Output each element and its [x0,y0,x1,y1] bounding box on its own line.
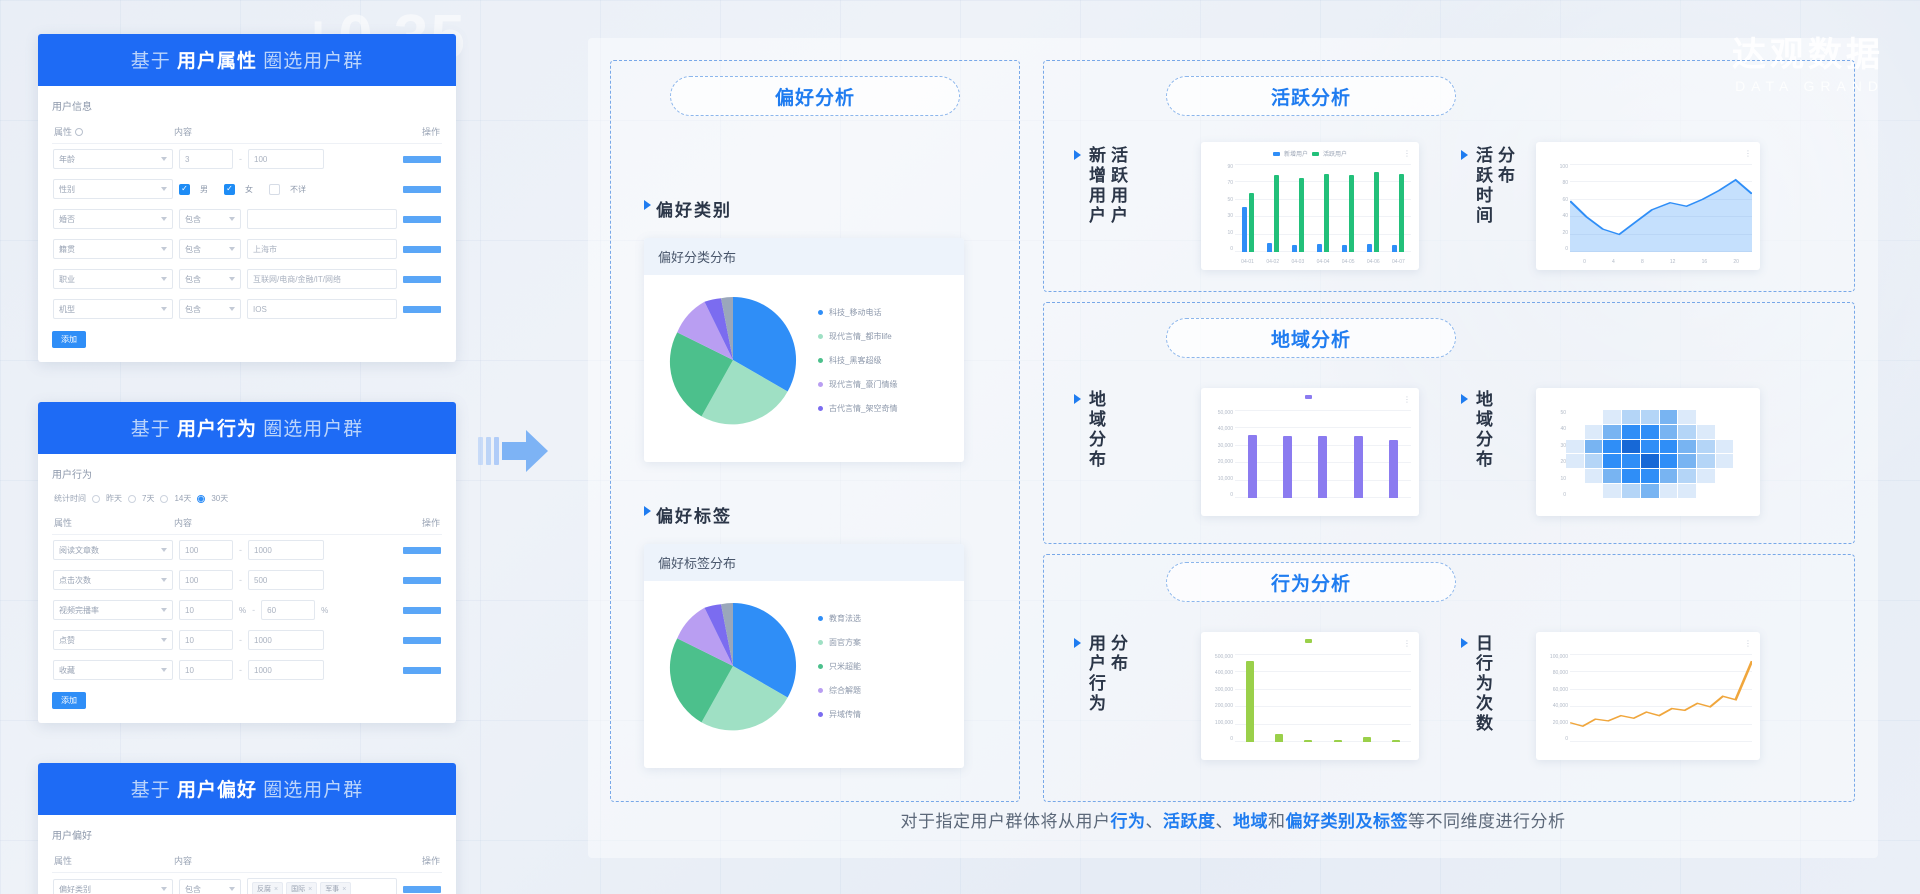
triangle-bullet-icon [644,506,651,516]
triangle-bullet-icon [644,200,651,210]
legend-swatch-icon [818,310,823,315]
row-action-link[interactable] [403,276,441,283]
card-user-attributes: 基于 用户属性 圈选用户群 用户信息 属性 内容 操作 年龄 3 - 100 性… [38,34,456,362]
value-input[interactable]: IOS [247,299,397,319]
legend-label: 科技_黑客超级 [829,355,881,366]
range-max-input[interactable]: 100 [248,149,324,169]
attribute-select[interactable]: 婚否 [53,209,173,229]
attribute-select[interactable]: 阅读文章数 [53,540,173,560]
arrow-tail-bar [494,437,499,465]
legend-label: 异域传情 [829,709,861,720]
label-region-distribution-right: 地域分布 [1461,390,1545,470]
attribute-select[interactable]: 机型 [53,299,173,319]
x-axis-active-time: 04 812 1620 [1570,259,1752,265]
arrow-tail-bar [486,437,491,465]
legend-swatch-icon [818,664,823,669]
table-row: 籍贯 包含 上海市 [52,234,442,264]
group-label-preference-tag: 偏好标签 [644,502,732,527]
label-col-distribution: 分布 [1495,146,1513,226]
radio-yesterday-label: 昨天 [106,493,122,504]
legend-label: 活跃用户 [1323,149,1347,158]
percent-unit-max: % [321,606,328,615]
tag-chip[interactable]: 军事× [320,882,351,894]
radio-7days[interactable] [128,495,136,503]
col-content: 内容 [174,125,396,138]
row-action-link[interactable] [403,547,441,554]
tag-input-category[interactable]: 反腐× 国际× 军事× [247,878,397,894]
col-content: 内容 [174,854,396,867]
line-chart-daily-behavior [1570,654,1752,742]
range-max-input[interactable]: 1000 [248,540,324,560]
checkbox-male-label: 男 [200,184,208,195]
triangle-bullet-icon [1461,394,1468,404]
legend-swatch-icon [1312,152,1319,156]
range-dash: - [239,545,242,555]
triangle-bullet-icon [1074,150,1081,160]
chart-menu-icon[interactable]: ⋮ [1744,149,1752,158]
range-min-input[interactable]: 10 [179,630,233,650]
group-label-text: 偏好类别 [656,196,732,221]
range-min-input[interactable]: 10 [179,600,233,620]
legend-item: 古代言情_架空奇情 [818,403,897,414]
pie-legend-tag: 教育法选 面官方案 只米超能 综合解题 异域传情 [818,613,861,720]
legend-item: 现代言情_豪门情缘 [818,379,897,390]
plot-area-region [1235,410,1411,498]
caption-part-4: 和 [1268,812,1286,831]
chart-card-active-time: ⋮ 100806040200 04 812 1620 [1536,142,1760,270]
pie-legend-category: 科技_移动电话 现代言情_都市life 科技_黑客超级 现代言情_豪门情缘 古代… [818,307,897,414]
pie-chart-category [658,285,808,435]
caption-highlight-activity: 活跃度 [1163,812,1216,831]
plot-area-active-time [1570,164,1752,252]
y-axis-daily-behavior: 100,00080,00060,00040,00020,0000 [1542,654,1568,742]
row-action-link[interactable] [403,577,441,584]
card-title-suffix: 圈选用户群 [263,51,363,72]
triangle-bullet-icon [1074,394,1081,404]
form-header: 属性 内容 操作 [52,121,442,144]
legend-label: 新增用户 [1284,149,1308,158]
attribute-select[interactable]: 年龄 [53,149,173,169]
card-user-behavior: 基于 用户行为 圈选用户群 用户行为 统计时间 昨天 7天 14天 30天 属性… [38,402,456,723]
plot-area-active-users [1235,164,1411,252]
checkbox-unknown-label: 不详 [290,184,306,195]
row-action-link[interactable] [403,886,441,893]
card-title-prefix: 基于 [131,419,171,440]
section-title-preference-text: 偏好分析 [775,83,855,110]
col-action: 操作 [396,854,440,867]
legend-item: 面官方案 [818,637,861,648]
triangle-bullet-icon [1461,638,1468,648]
plot-area-behavior [1235,654,1411,742]
tag-label: 反腐 [257,884,271,894]
table-row: 点赞 10 - 1000 [52,625,442,655]
triangle-bullet-icon [1074,638,1081,648]
row-action-link[interactable] [403,306,441,313]
legend-label: 只米超能 [829,661,861,672]
label-col-new-users: 新增用户 [1086,146,1104,226]
clock-icon [75,128,83,136]
table-row: 偏好类别 包含 反腐× 国际× 军事× [52,873,442,894]
caption-part-1: 对于指定用户群体将从用户 [901,812,1111,831]
card-title-prefix: 基于 [131,51,171,72]
col-action: 操作 [396,125,440,138]
range-max-input[interactable]: 60 [261,600,315,620]
section-title-active: 活跃分析 [1166,76,1456,116]
section-title-preference: 偏好分析 [670,76,960,116]
legend-label: 古代言情_架空奇情 [829,403,897,414]
tag-remove-icon[interactable]: × [342,886,346,893]
chart-legend-active-users: 新增用户 活跃用户 [1201,149,1419,158]
col-attr: 属性 [54,516,174,529]
bar-series-active-users [1235,164,1411,252]
legend-swatch-icon [1305,395,1312,399]
value-input[interactable]: 互联网/电商/金融/IT/网络 [247,269,397,289]
operator-select[interactable]: 包含 [179,299,241,319]
y-axis-behavior: 500,000400,000300,000200,000100,0000 [1207,654,1233,742]
percent-unit-min: % [239,606,246,615]
chart-card-preference-tag: 偏好标签分布 教育法选 面官方案 只米超能 综合解题 异域传情 [644,544,964,768]
card-title-suffix: 圈选用户群 [263,419,363,440]
tag-chip[interactable]: 反腐× [252,882,283,894]
legend-swatch-icon [818,640,823,645]
range-max-input[interactable]: 1000 [248,660,324,680]
section-label-user-behavior: 用户行为 [52,466,442,481]
analysis-panel: 偏好分析 偏好类别 偏好分类分布 科技_移动电话 现代言情_都市life 科技_… [588,38,1878,858]
caption-highlight-preference: 偏好类别及标签 [1286,812,1409,831]
legend-label: 现代言情_都市life [829,331,892,342]
range-dash: - [239,665,242,675]
add-condition-button[interactable]: 添加 [52,331,86,348]
section-title-region-text: 地域分析 [1271,325,1351,352]
y-axis-active-users: 90705030100 [1207,164,1233,252]
form-header: 属性 内容 操作 [52,512,442,535]
label-col-region-distribution: 地域分布 [1086,390,1104,470]
chart-card-preference-category: 偏好分类分布 科技_移动电话 现代言情_都市life 科技_黑客超级 现代言情_… [644,238,964,462]
card-user-preference: 基于 用户偏好 圈选用户群 用户偏好 属性 内容 操作 偏好类别 包含 反腐× … [38,763,456,894]
range-min-input[interactable]: 3 [179,149,233,169]
time-range-radio-group: 统计时间 昨天 7天 14天 30天 [52,489,442,512]
range-dash: - [239,635,242,645]
card-title-suffix: 圈选用户群 [263,780,363,801]
chart-card-region-heatmap: 50°40°30°20°10°0° [1536,388,1760,516]
checkbox-unknown[interactable] [269,184,280,195]
legend-swatch-icon [1273,152,1280,156]
chart-title-preference-tag: 偏好标签分布 [644,544,964,581]
operator-select[interactable]: 包含 [179,239,241,259]
range-max-input[interactable]: 500 [248,570,324,590]
radio-14days[interactable] [160,495,168,503]
legend-swatch-icon [1305,639,1312,643]
group-label-preference-category: 偏好类别 [644,196,732,221]
section-label-user-preference: 用户偏好 [52,827,442,842]
legend-swatch-icon [818,334,823,339]
tag-label: 军事 [325,884,339,894]
legend-swatch-icon [818,358,823,363]
caption-highlight-behavior: 行为 [1111,812,1146,831]
table-row: 点击次数 100 - 500 [52,565,442,595]
checkbox-male[interactable]: ✓ [179,184,190,195]
attribute-select[interactable]: 点击次数 [53,570,173,590]
label-col-region-distribution: 地域分布 [1473,390,1491,470]
col-content: 内容 [174,516,396,529]
chart-menu-icon[interactable]: ⋮ [1403,149,1411,158]
legend-label: 面官方案 [829,637,861,648]
label-col-daily-behavior: 日行为次数 [1473,634,1491,734]
card-title-prefix: 基于 [131,780,171,801]
attribute-select[interactable]: 职业 [53,269,173,289]
radio-14days-label: 14天 [174,493,191,504]
chart-menu-icon[interactable]: ⋮ [1403,639,1411,648]
attribute-select[interactable]: 籍贯 [53,239,173,259]
section-title-active-text: 活跃分析 [1271,83,1351,110]
attribute-select[interactable]: 偏好类别 [53,879,173,894]
left-cards-column: 基于 用户属性 圈选用户群 用户信息 属性 内容 操作 年龄 3 - 100 性… [38,34,456,894]
legend-swatch-icon [818,382,823,387]
chart-card-region-bar: ⋮ 50,00040,00030,00020,00010,0000 [1201,388,1419,516]
attribute-select[interactable]: 收藏 [53,660,173,680]
area-chart-active-time [1570,164,1752,252]
chart-menu-icon[interactable]: ⋮ [1744,639,1752,648]
row-action-link[interactable] [403,246,441,253]
table-row: 职业 包含 互联网/电商/金融/IT/网络 [52,264,442,294]
heatmap-grid-region [1566,410,1752,498]
legend-item: 现代言情_都市life [818,331,897,342]
range-dash: - [252,605,255,615]
y-axis-active-time: 100806040200 [1542,164,1568,252]
chart-card-behavior-bar: ⋮ 500,000400,000300,000200,000100,0000 [1201,632,1419,760]
arrow-tail-bar [478,437,483,465]
card-title-highlight: 用户属性 [177,51,257,72]
legend-item: 综合解题 [818,685,861,696]
attribute-select[interactable]: 点赞 [53,630,173,650]
table-row: 婚否 包含 [52,204,442,234]
label-col-active-users: 活跃用户 [1108,146,1126,226]
row-action-link[interactable] [403,186,441,193]
card-title-user-attributes: 基于 用户属性 圈选用户群 [38,34,456,86]
row-action-link[interactable] [403,667,441,674]
label-user-behavior-distribution: 用户行为 分布 [1074,634,1198,714]
operator-select[interactable]: 包含 [179,879,241,894]
chart-card-active-users: 新增用户 活跃用户 ⋮ 90705030100 04-0104-02 04-03… [1201,142,1419,270]
table-row: 视频完播率 10 % - 60 % [52,595,442,625]
row-action-link[interactable] [403,156,441,163]
legend-swatch-icon [818,688,823,693]
time-range-label: 统计时间 [54,493,86,504]
pie-chart-tag [658,591,808,741]
caption-highlight-region: 地域 [1233,812,1268,831]
group-label-text: 偏好标签 [656,502,732,527]
tag-remove-icon[interactable]: × [308,886,312,893]
legend-label: 现代言情_豪门情缘 [829,379,897,390]
chart-title-preference-category: 偏好分类分布 [644,238,964,275]
range-min-input[interactable]: 100 [179,540,233,560]
row-action-link[interactable] [403,216,441,223]
table-row: 机型 包含 IOS [52,294,442,324]
plot-area-daily-behavior [1570,654,1752,742]
card-title-user-behavior: 基于 用户行为 圈选用户群 [38,402,456,454]
radio-30days[interactable] [197,495,205,503]
row-action-link[interactable] [403,637,441,644]
section-title-behavior: 行为分析 [1166,562,1456,602]
col-action: 操作 [396,516,440,529]
caption-part-3: 、 [1216,812,1234,831]
radio-7days-label: 7天 [142,493,154,504]
legend-swatch-icon [818,406,823,411]
label-col-user-behavior: 用户行为 [1086,634,1104,714]
card-title-highlight: 用户行为 [177,419,257,440]
legend-item: 科技_移动电话 [818,307,897,318]
bar-series-behavior [1235,654,1411,742]
legend-item: 异域传情 [818,709,861,720]
legend-swatch-icon [818,712,823,717]
label-col-active-time: 活跃时间 [1473,146,1491,226]
legend-item: 教育法选 [818,613,861,624]
y-axis-region: 50,00040,00030,00020,00010,0000 [1207,410,1233,498]
legend-item: 只米超能 [818,661,861,672]
legend-label: 教育法选 [829,613,861,624]
arrow-head-icon [502,430,548,472]
attribute-select[interactable]: 视频完播率 [53,600,173,620]
radio-30days-label: 30天 [211,493,228,504]
table-row: 阅读文章数 100 - 1000 [52,535,442,565]
col-attr: 属性 [54,854,174,867]
value-input[interactable]: 上海市 [247,239,397,259]
card-title-highlight: 用户偏好 [177,780,257,801]
flow-arrow [478,430,548,472]
card-title-user-preference: 基于 用户偏好 圈选用户群 [38,763,456,815]
legend-label: 综合解题 [829,685,861,696]
chart-card-daily-behavior: ⋮ 100,00080,00060,00040,00020,0000 [1536,632,1760,760]
tag-chip[interactable]: 国际× [286,882,317,894]
legend-item: 科技_黑客超级 [818,355,897,366]
legend-label: 科技_移动电话 [829,307,881,318]
bar-series-region [1235,410,1411,498]
chart-legend-region [1201,395,1419,399]
y-axis-heatmap: 50°40°30°20°10°0° [1542,410,1568,498]
section-title-behavior-text: 行为分析 [1271,569,1351,596]
chart-legend-behavior [1201,639,1419,643]
tag-label: 国际 [291,884,305,894]
table-row: 年龄 3 - 100 [52,144,442,174]
add-condition-button[interactable]: 添加 [52,692,86,709]
label-col-distribution: 分布 [1108,634,1126,714]
range-dash: - [239,154,242,164]
checkbox-female-label: 女 [245,184,253,195]
attribute-select[interactable]: 性别 [53,179,173,199]
label-region-distribution-left: 地域分布 [1074,390,1158,470]
section-title-region: 地域分析 [1166,318,1456,358]
legend-swatch-icon [818,616,823,621]
caption-part-5: 等不同维度进行分析 [1408,812,1566,831]
table-row: 收藏 10 - 1000 [52,655,442,685]
row-action-link[interactable] [403,607,441,614]
triangle-bullet-icon [1461,150,1468,160]
range-min-input[interactable]: 100 [179,570,233,590]
table-row: 性别 ✓ 男 ✓ 女 不详 [52,174,442,204]
value-input[interactable] [247,209,397,229]
range-max-input[interactable]: 1000 [248,630,324,650]
panel-caption: 对于指定用户群体将从用户行为、活跃度、地域和偏好类别及标签等不同维度进行分析 [588,807,1878,832]
tag-remove-icon[interactable]: × [274,886,278,893]
radio-yesterday[interactable] [92,495,100,503]
range-min-input[interactable]: 10 [179,660,233,680]
checkbox-female[interactable]: ✓ [224,184,235,195]
caption-part-2: 、 [1146,812,1164,831]
form-header: 属性 内容 操作 [52,850,442,873]
section-label-user-info: 用户信息 [52,98,442,113]
range-dash: - [239,575,242,585]
operator-select[interactable]: 包含 [179,269,241,289]
chart-menu-icon[interactable]: ⋮ [1403,395,1411,404]
col-attr: 属性 [54,127,72,137]
operator-select[interactable]: 包含 [179,209,241,229]
x-axis-active-users: 04-0104-02 04-0304-04 04-0504-06 04-07 [1235,259,1411,265]
